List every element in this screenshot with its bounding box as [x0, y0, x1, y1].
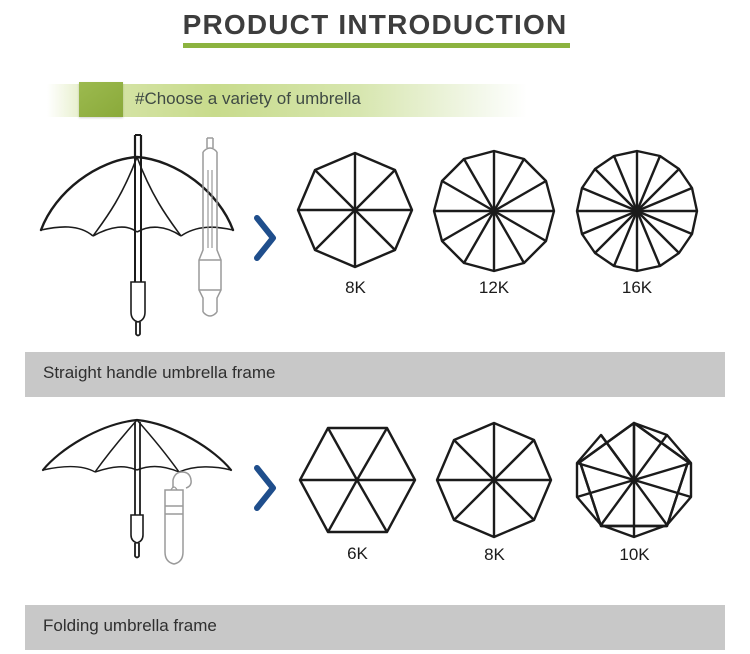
section-header: #Choose a variety of umbrella [47, 84, 527, 117]
canopy-12k-straight: 12K [430, 146, 558, 298]
canopy-16k-straight: 16K [573, 146, 701, 298]
caption-bar-folding: Folding umbrella frame [25, 605, 725, 650]
section-header-label: #Choose a variety of umbrella [135, 89, 361, 109]
canopy-label-8k: 8K [293, 278, 418, 298]
section-header-accent-square [79, 82, 123, 117]
title-underline [183, 43, 570, 48]
caption-label-straight: Straight handle umbrella frame [43, 363, 275, 383]
canopy-diagram-8k-folding [432, 418, 557, 543]
canopy-8k-folding: 8K [432, 418, 557, 565]
caption-bar-straight: Straight handle umbrella frame [25, 352, 725, 397]
canopy-label-6k: 6K [295, 544, 420, 564]
row-folding: 6K 8K [0, 410, 750, 595]
canopy-diagram-12k [430, 146, 558, 276]
chevron-right-icon-straight [252, 215, 278, 261]
canopy-label-8k-folding: 8K [432, 545, 557, 565]
canopy-diagram-8k [293, 148, 418, 276]
canopy-label-16k: 16K [573, 278, 701, 298]
page-title: PRODUCT INTRODUCTION [0, 8, 750, 42]
chevron-right-icon-folding [252, 465, 278, 511]
straight-umbrella-illustration [25, 130, 255, 340]
canopy-6k-folding: 6K [295, 420, 420, 564]
page-title-block: PRODUCT INTRODUCTION [0, 8, 750, 42]
caption-label-folding: Folding umbrella frame [43, 616, 217, 636]
canopy-8k-straight: 8K [293, 148, 418, 298]
canopy-diagram-16k [573, 146, 701, 276]
canopy-diagram-6k [295, 420, 420, 542]
row-straight-handle: 8K 12K [0, 130, 750, 345]
folding-umbrella-illustration [25, 410, 255, 585]
canopy-diagram-10k [572, 418, 697, 543]
canopy-10k-folding: 10K [572, 418, 697, 565]
canopy-label-12k: 12K [430, 278, 558, 298]
canopy-label-10k: 10K [572, 545, 697, 565]
